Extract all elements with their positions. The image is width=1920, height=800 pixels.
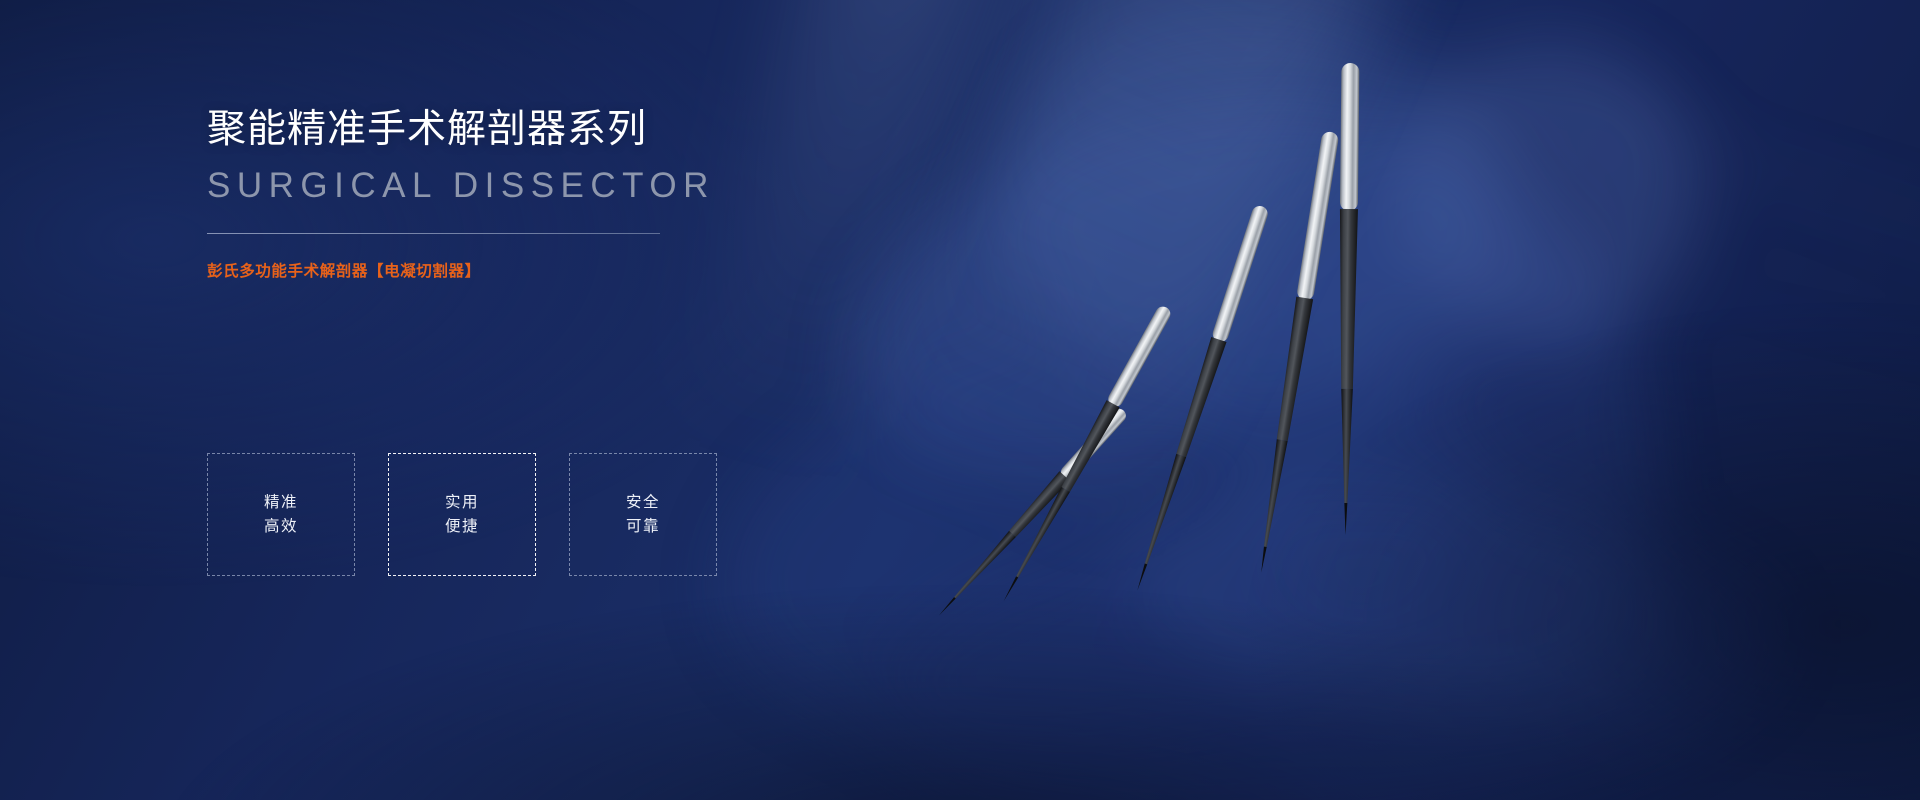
feature-card-3[interactable]: 安全 可靠: [569, 453, 717, 576]
feature-card-3-line2: 可靠: [626, 519, 660, 535]
feature-list: 精准 高效 实用 便捷 安全 可靠: [207, 453, 717, 576]
page-subtitle-en: SURGICAL DISSECTOR: [207, 168, 907, 203]
feature-card-2-line1: 实用: [445, 495, 479, 511]
feature-card-1-line1: 精准: [264, 495, 298, 511]
hero-copy: 聚能精准手术解剖器系列 SURGICAL DISSECTOR 彭氏多功能手术解剖…: [207, 110, 907, 280]
feature-card-2-line2: 便捷: [445, 519, 479, 535]
feature-card-1-line2: 高效: [264, 519, 298, 535]
hero-banner: 聚能精准手术解剖器系列 SURGICAL DISSECTOR 彭氏多功能手术解剖…: [0, 0, 1920, 800]
feature-card-3-line1: 安全: [626, 495, 660, 511]
product-name: 彭氏多功能手术解剖器【电凝切割器】: [207, 264, 907, 280]
divider: [207, 233, 660, 234]
feature-card-2[interactable]: 实用 便捷: [388, 453, 536, 576]
feature-card-1[interactable]: 精准 高效: [207, 453, 355, 576]
page-title: 聚能精准手术解剖器系列: [207, 110, 907, 149]
